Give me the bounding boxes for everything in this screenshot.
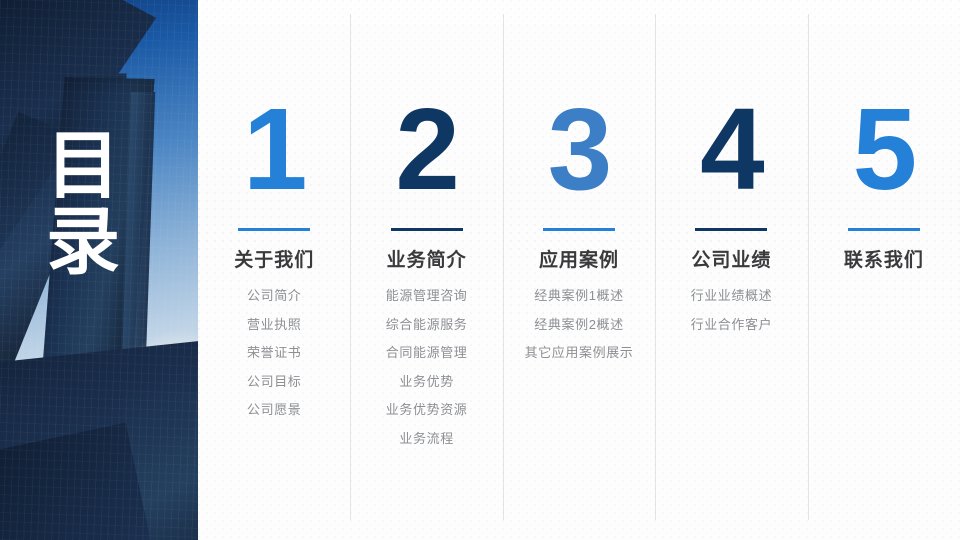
list-item[interactable]: 行业合作客户 <box>691 317 773 333</box>
list-item[interactable]: 公司目标 <box>247 374 301 390</box>
section-title: 公司业绩 <box>691 245 771 272</box>
list-item[interactable]: 营业执照 <box>247 317 301 333</box>
toc-column-5[interactable]: 5 联系我们 <box>808 0 960 540</box>
section-number: 4 <box>700 96 763 220</box>
section-rule <box>695 228 767 231</box>
section-number: 2 <box>395 96 458 220</box>
section-item-list: 经典案例1概述 经典案例2概述 其它应用案例展示 <box>525 288 634 361</box>
list-item[interactable]: 合同能源管理 <box>386 345 468 361</box>
list-item[interactable]: 能源管理咨询 <box>386 288 468 304</box>
section-item-list: 能源管理咨询 综合能源服务 合同能源管理 业务优势 业务优势资源 业务流程 <box>386 288 468 447</box>
page-title: 目录 <box>46 128 138 280</box>
section-item-list: 行业业绩概述 行业合作客户 <box>691 288 773 332</box>
list-item[interactable]: 其它应用案例展示 <box>525 345 634 361</box>
list-item[interactable]: 公司简介 <box>247 288 301 304</box>
section-rule <box>391 228 463 231</box>
section-title: 联系我们 <box>844 245 924 272</box>
list-item[interactable]: 业务优势资源 <box>386 402 468 418</box>
list-item[interactable]: 行业业绩概述 <box>691 288 773 304</box>
toc-column-2[interactable]: 2 业务简介 能源管理咨询 综合能源服务 合同能源管理 业务优势 业务优势资源 … <box>350 0 502 540</box>
list-item[interactable]: 综合能源服务 <box>386 317 468 333</box>
toc-column-3[interactable]: 3 应用案例 经典案例1概述 经典案例2概述 其它应用案例展示 <box>503 0 655 540</box>
list-item[interactable]: 业务优势 <box>399 374 453 390</box>
section-title: 关于我们 <box>234 245 314 272</box>
list-item[interactable]: 公司愿景 <box>247 402 301 418</box>
section-rule <box>848 228 920 231</box>
section-item-list: 公司简介 营业执照 荣誉证书 公司目标 公司愿景 <box>247 288 301 418</box>
toc-column-1[interactable]: 1 关于我们 公司简介 营业执照 荣誉证书 公司目标 公司愿景 <box>198 0 350 540</box>
section-number: 1 <box>243 96 306 220</box>
list-item[interactable]: 业务流程 <box>399 431 453 447</box>
section-rule <box>238 228 310 231</box>
section-number: 5 <box>853 96 916 220</box>
hero-photo-panel: 目录 <box>0 0 198 540</box>
list-item[interactable]: 经典案例2概述 <box>534 317 623 333</box>
section-number: 3 <box>548 96 611 220</box>
toc-columns: 1 关于我们 公司简介 营业执照 荣誉证书 公司目标 公司愿景 2 业务简介 能… <box>198 0 960 540</box>
list-item[interactable]: 经典案例1概述 <box>534 288 623 304</box>
section-title: 业务简介 <box>387 245 467 272</box>
toc-column-4[interactable]: 4 公司业绩 行业业绩概述 行业合作客户 <box>655 0 807 540</box>
section-rule <box>543 228 615 231</box>
presentation-slide: 目录 1 关于我们 公司简介 营业执照 荣誉证书 公司目标 公司愿景 2 业务简… <box>0 0 960 540</box>
list-item[interactable]: 荣誉证书 <box>247 345 301 361</box>
section-title: 应用案例 <box>539 245 619 272</box>
